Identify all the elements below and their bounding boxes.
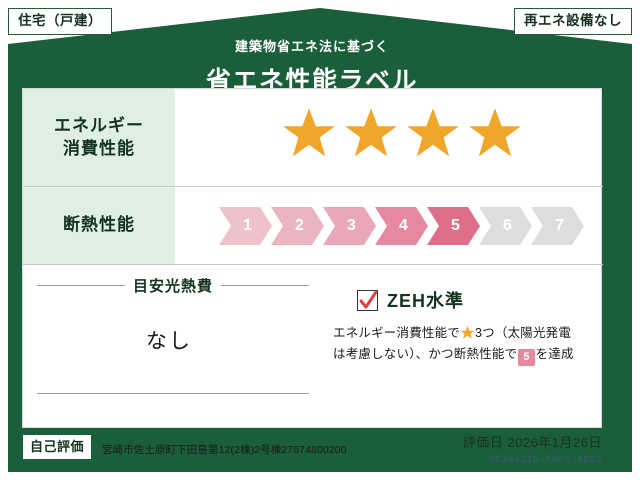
insulation-level-4-label: 4 <box>375 207 428 245</box>
insulation-level-6: 6 <box>479 207 532 245</box>
zeh-description: エネルギー消費性能で3つ（太陽光発電 は考慮しない）、かつ断熱性能で5を達成 <box>333 323 595 366</box>
document-hash: 8f3a4215-fbce-4b53 <box>463 455 602 466</box>
energy-performance-row: エネルギー 消費性能 <box>23 89 603 187</box>
zeh-desc-part1: エネルギー消費性能で <box>333 326 460 340</box>
rule-left <box>37 285 125 286</box>
insulation-level-2-label: 2 <box>271 207 324 245</box>
evaluation-date: 評価日 2026年1月26日 <box>463 432 602 451</box>
zeh-desc-part2: 3つ（太陽光発電 <box>475 326 571 340</box>
insulation-level-2: 2 <box>271 207 324 245</box>
insulation-level-7: 7 <box>531 207 584 245</box>
insulation-scale: 1 2 3 4 5 <box>219 207 583 245</box>
insulation-performance-label: 断熱性能 <box>23 187 175 264</box>
insulation-level-3-label: 3 <box>323 207 376 245</box>
utility-cost-value: なし <box>23 325 315 355</box>
star-icon <box>405 105 461 161</box>
building-type-tag: 住宅（戸建） <box>8 8 112 35</box>
insulation-performance-row: 断熱性能 1 2 3 <box>23 187 603 265</box>
star-icon <box>467 105 523 161</box>
utility-cost-title: 目安光熱費 <box>133 275 213 296</box>
energy-performance-value <box>175 89 603 186</box>
star-icon <box>281 105 337 161</box>
insulation-performance-value: 1 2 3 4 5 <box>175 187 603 264</box>
insulation-level-1: 1 <box>219 207 272 245</box>
property-address: 宮崎市佐土原町下田島第12(2棟)2号棟27674800200 <box>102 442 347 457</box>
label-footer: 自己評価 宮崎市佐土原町下田島第12(2棟)2号棟27674800200 評価日… <box>22 432 602 470</box>
energy-performance-label-line1: エネルギー <box>54 115 144 138</box>
header-subtitle: 建築物省エネ法に基づく <box>0 36 624 55</box>
utility-cost-block: 目安光熱費 なし <box>23 265 323 429</box>
insulation-level-3: 3 <box>323 207 376 245</box>
evaluation-date-block: 評価日 2026年1月26日 8f3a4215-fbce-4b53 <box>463 432 602 466</box>
zeh-checkbox[interactable] <box>357 290 378 311</box>
energy-performance-label: エネルギー 消費性能 <box>23 89 175 186</box>
insulation-level-6-label: 6 <box>479 207 532 245</box>
star-icon <box>460 325 475 340</box>
check-icon <box>359 289 378 313</box>
zeh-desc-level-chip: 5 <box>518 349 534 365</box>
zeh-desc-part3: は考慮しない）、かつ断熱性能で <box>333 347 517 361</box>
utility-cost-underline <box>37 393 309 394</box>
insulation-level-1-label: 1 <box>219 207 272 245</box>
energy-performance-label-line2: 消費性能 <box>54 138 144 161</box>
self-evaluation-tag: 自己評価 <box>22 434 92 460</box>
label-panel: エネルギー 消費性能 断熱性能 1 <box>22 88 602 428</box>
star-rating <box>281 105 523 161</box>
star-icon <box>343 105 399 161</box>
zeh-title: ZEH水準 <box>387 287 464 313</box>
insulation-level-4: 4 <box>375 207 428 245</box>
utility-cost-heading: 目安光熱費 <box>37 275 309 296</box>
renewable-energy-tag: 再エネ設備なし <box>514 8 632 35</box>
insulation-level-5: 5 <box>427 207 480 245</box>
insulation-level-5-label: 5 <box>427 207 480 245</box>
zeh-desc-part4: を達成 <box>536 347 574 361</box>
insulation-level-7-label: 7 <box>531 207 584 245</box>
zeh-heading: ZEH水準 <box>357 287 464 313</box>
rule-right <box>221 285 309 286</box>
energy-label-document: 建築物省エネ法に基づく 省エネ性能ラベル 住宅（戸建） 再エネ設備なし エネルギ… <box>0 0 640 480</box>
zeh-block: ZEH水準 エネルギー消費性能で3つ（太陽光発電 は考慮しない）、かつ断熱性能で… <box>323 265 603 429</box>
